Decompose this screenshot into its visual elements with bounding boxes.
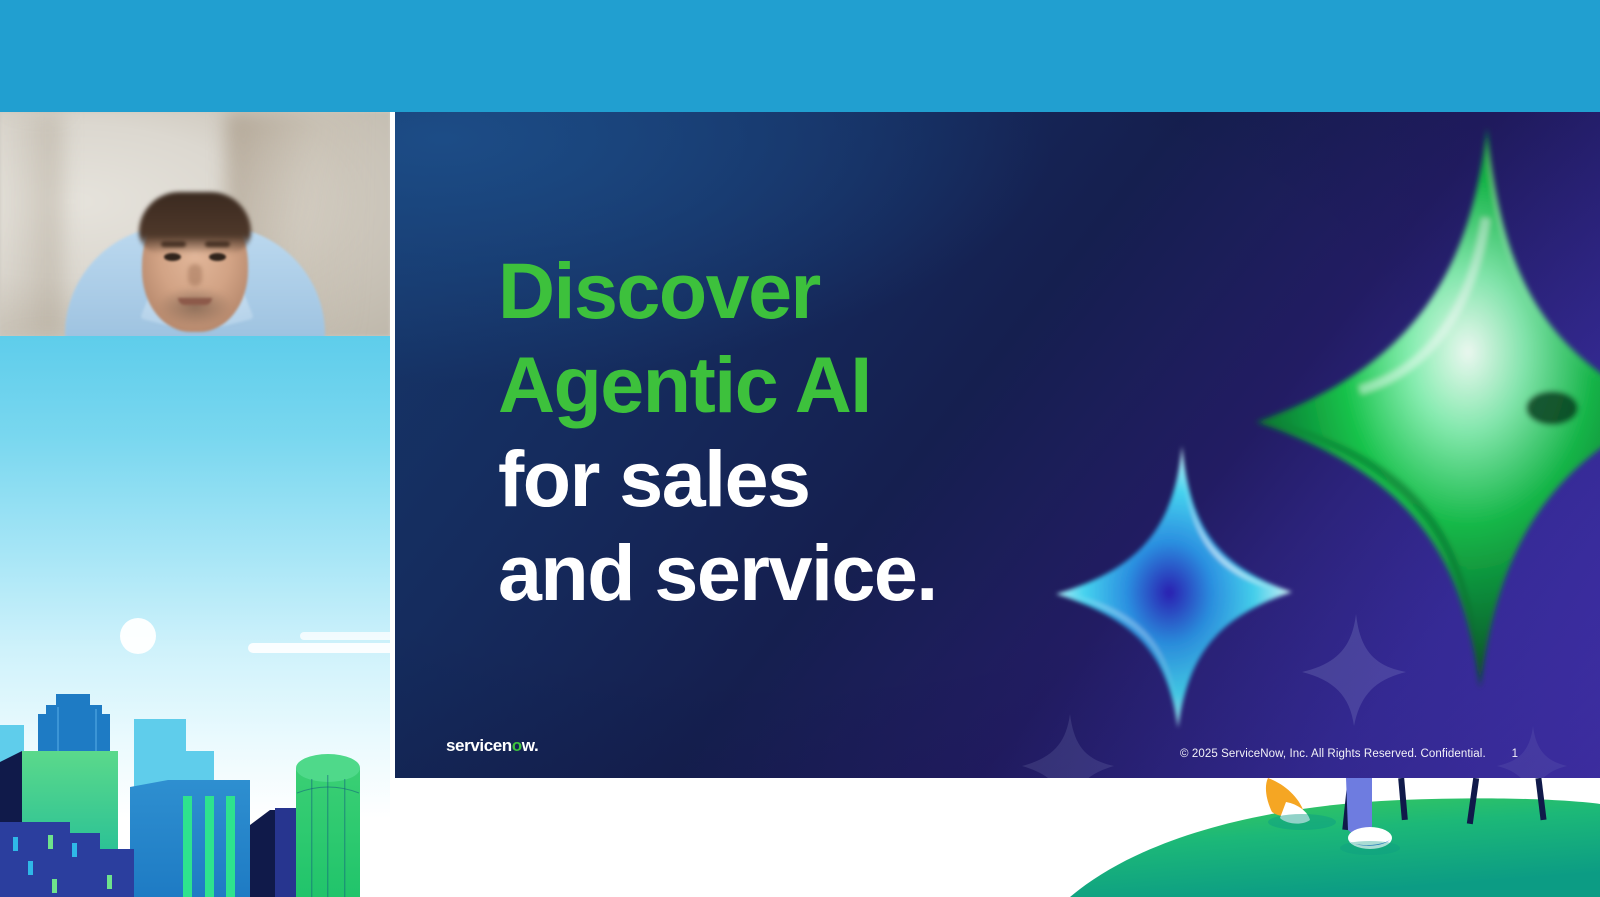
skyline-shapes: [0, 667, 390, 897]
mouth: [178, 298, 212, 305]
eyebrow-left: [161, 241, 186, 247]
copyright-notice: © 2025 ServiceNow, Inc. All Rights Reser…: [1180, 748, 1486, 760]
eyebrow-right: [205, 241, 230, 247]
logo-accent-letter: o: [512, 736, 522, 755]
eye-right: [209, 253, 226, 261]
hill-and-people-shapes: [1070, 778, 1600, 897]
cloud-shape: [300, 632, 390, 640]
faint-sparkle-icon: [1300, 612, 1408, 728]
slide-page-number: 1: [1512, 748, 1518, 760]
bottom-illustration: [1070, 778, 1600, 897]
presentation-slide[interactable]: Discover Agentic AI for sales and servic…: [395, 112, 1600, 778]
faint-sparkle-icon: [1495, 724, 1569, 778]
nose: [188, 264, 202, 286]
headline-line-4: and service.: [498, 526, 1118, 620]
headline-line-1: Discover: [498, 244, 1118, 338]
participant-hair: [139, 192, 251, 254]
eye-left: [164, 253, 181, 261]
slide-headline: Discover Agentic AI for sales and servic…: [498, 244, 1118, 620]
sun-icon: [120, 618, 156, 654]
logo-trailing-dot: .: [534, 736, 538, 755]
wall-shadow-left: [0, 112, 62, 336]
servicenow-logo: servicenow.: [446, 736, 538, 756]
city-skyline-illustration: [0, 336, 390, 897]
headline-line-3: for sales: [498, 432, 1118, 526]
logo-prefix: servicen: [446, 736, 512, 755]
faint-sparkle-icon: [1020, 712, 1116, 778]
meeting-top-bar: [0, 0, 1600, 112]
beard: [152, 288, 238, 334]
headline-line-2: Agentic AI: [498, 338, 1118, 432]
cloud-shape: [248, 643, 390, 653]
screen: Discover Agentic AI for sales and servic…: [0, 0, 1600, 897]
logo-suffix: w: [522, 736, 534, 755]
webcam-video-tile[interactable]: [0, 112, 390, 336]
